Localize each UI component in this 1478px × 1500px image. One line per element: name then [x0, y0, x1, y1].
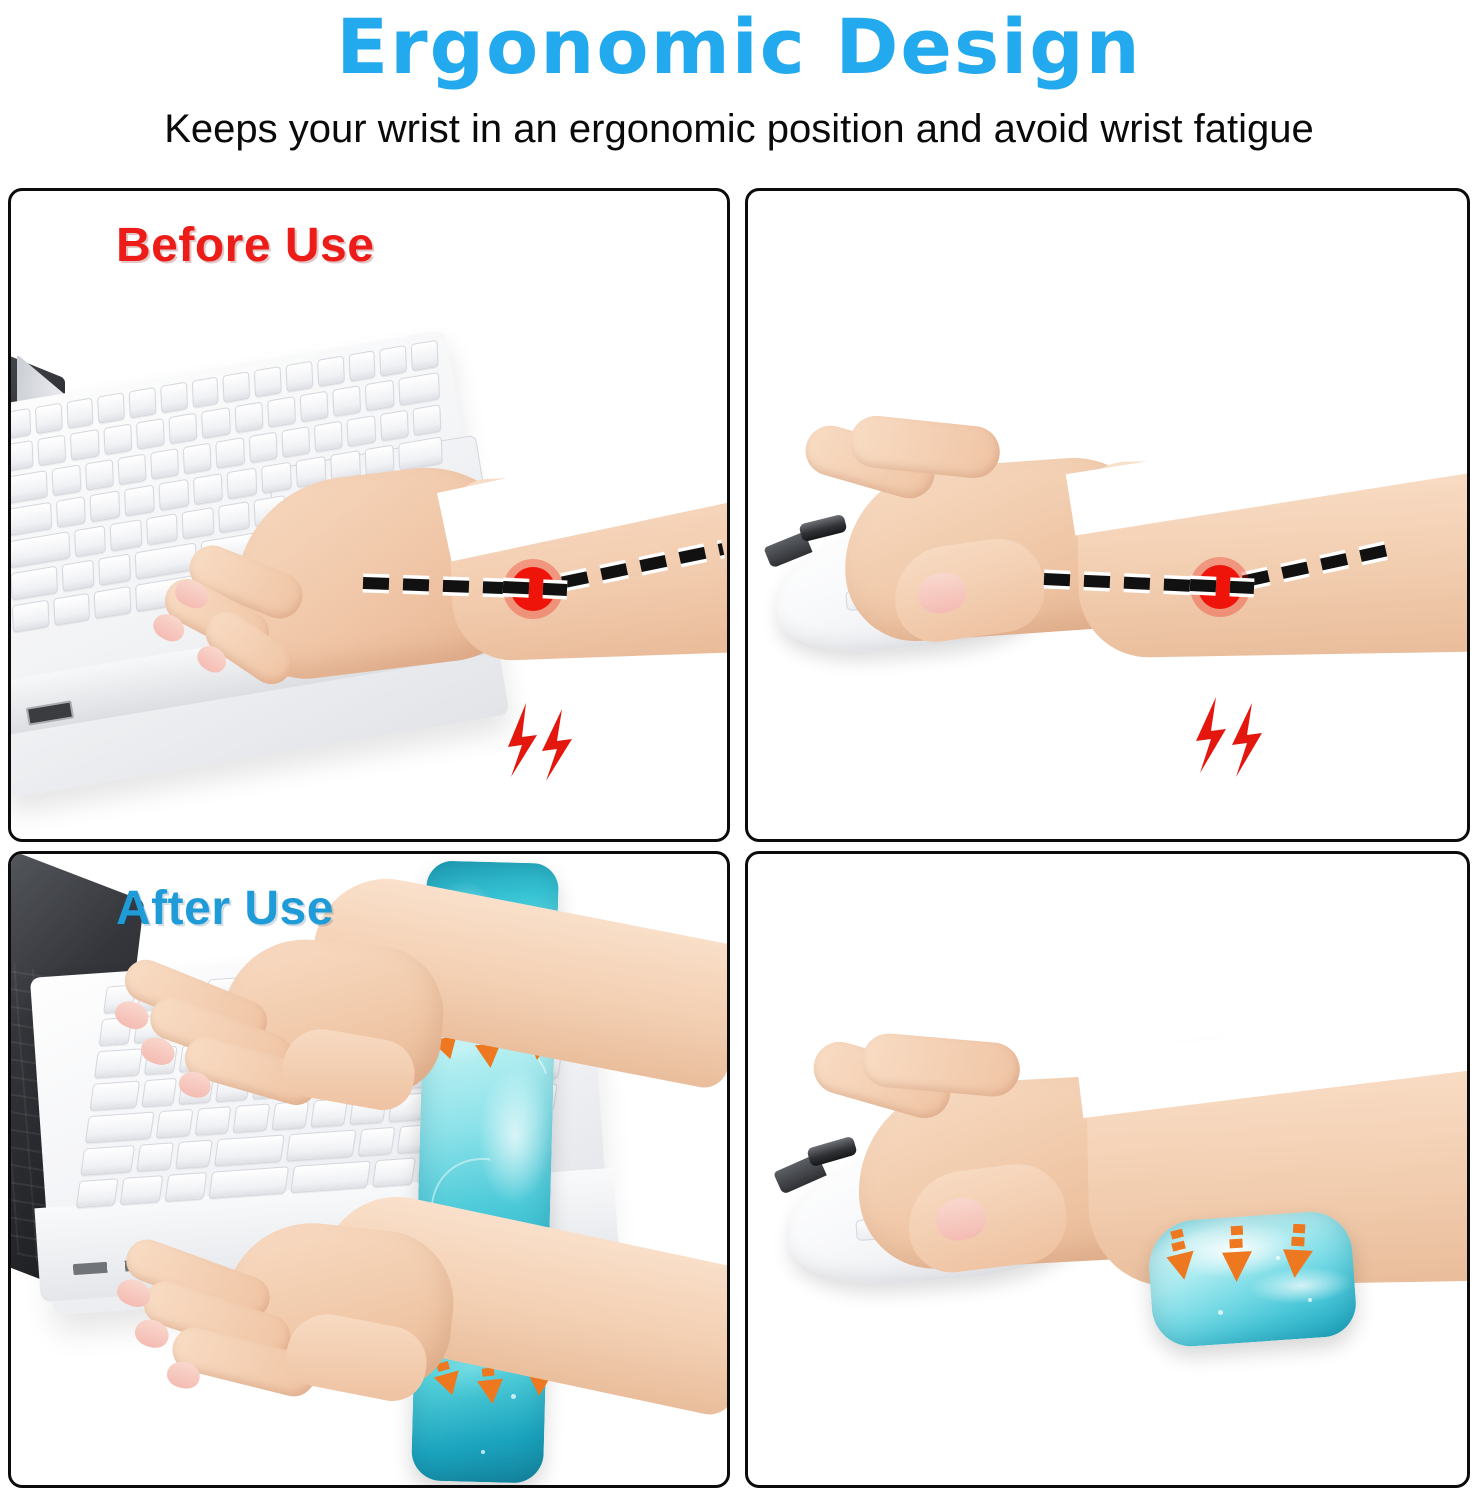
- panel-before-use-mouse: [745, 188, 1470, 842]
- page-subtitle: Keeps your wrist in an ergonomic positio…: [0, 104, 1478, 154]
- pressure-arrow-group: [1160, 1224, 1360, 1344]
- pain-bolt-icon: [1232, 703, 1262, 777]
- pain-indicator-svg: [748, 191, 1470, 842]
- panel-after-use-keyboard: After Use: [8, 851, 730, 1488]
- pain-indicator: [11, 191, 730, 842]
- pain-bolt-icon: [542, 709, 572, 781]
- panel-label-before-use: Before Use: [116, 217, 374, 275]
- pain-bolt-icon: [508, 703, 537, 777]
- mouse-scroll-wheel: [806, 1136, 857, 1167]
- panel-label-after-use: After Use: [116, 880, 334, 938]
- pain-bolt-icon: [1196, 697, 1226, 773]
- infographic-header: Ergonomic Design Keeps your wrist in an …: [0, 0, 1478, 180]
- pain-indicator: [748, 191, 1470, 842]
- pad-speck: [481, 1450, 485, 1454]
- page-title: Ergonomic Design: [0, 2, 1478, 92]
- panel-before-use-keyboard: Before Use: [8, 188, 730, 842]
- pain-indicator-svg: [11, 191, 730, 842]
- panel-after-use-mouse: [745, 851, 1470, 1488]
